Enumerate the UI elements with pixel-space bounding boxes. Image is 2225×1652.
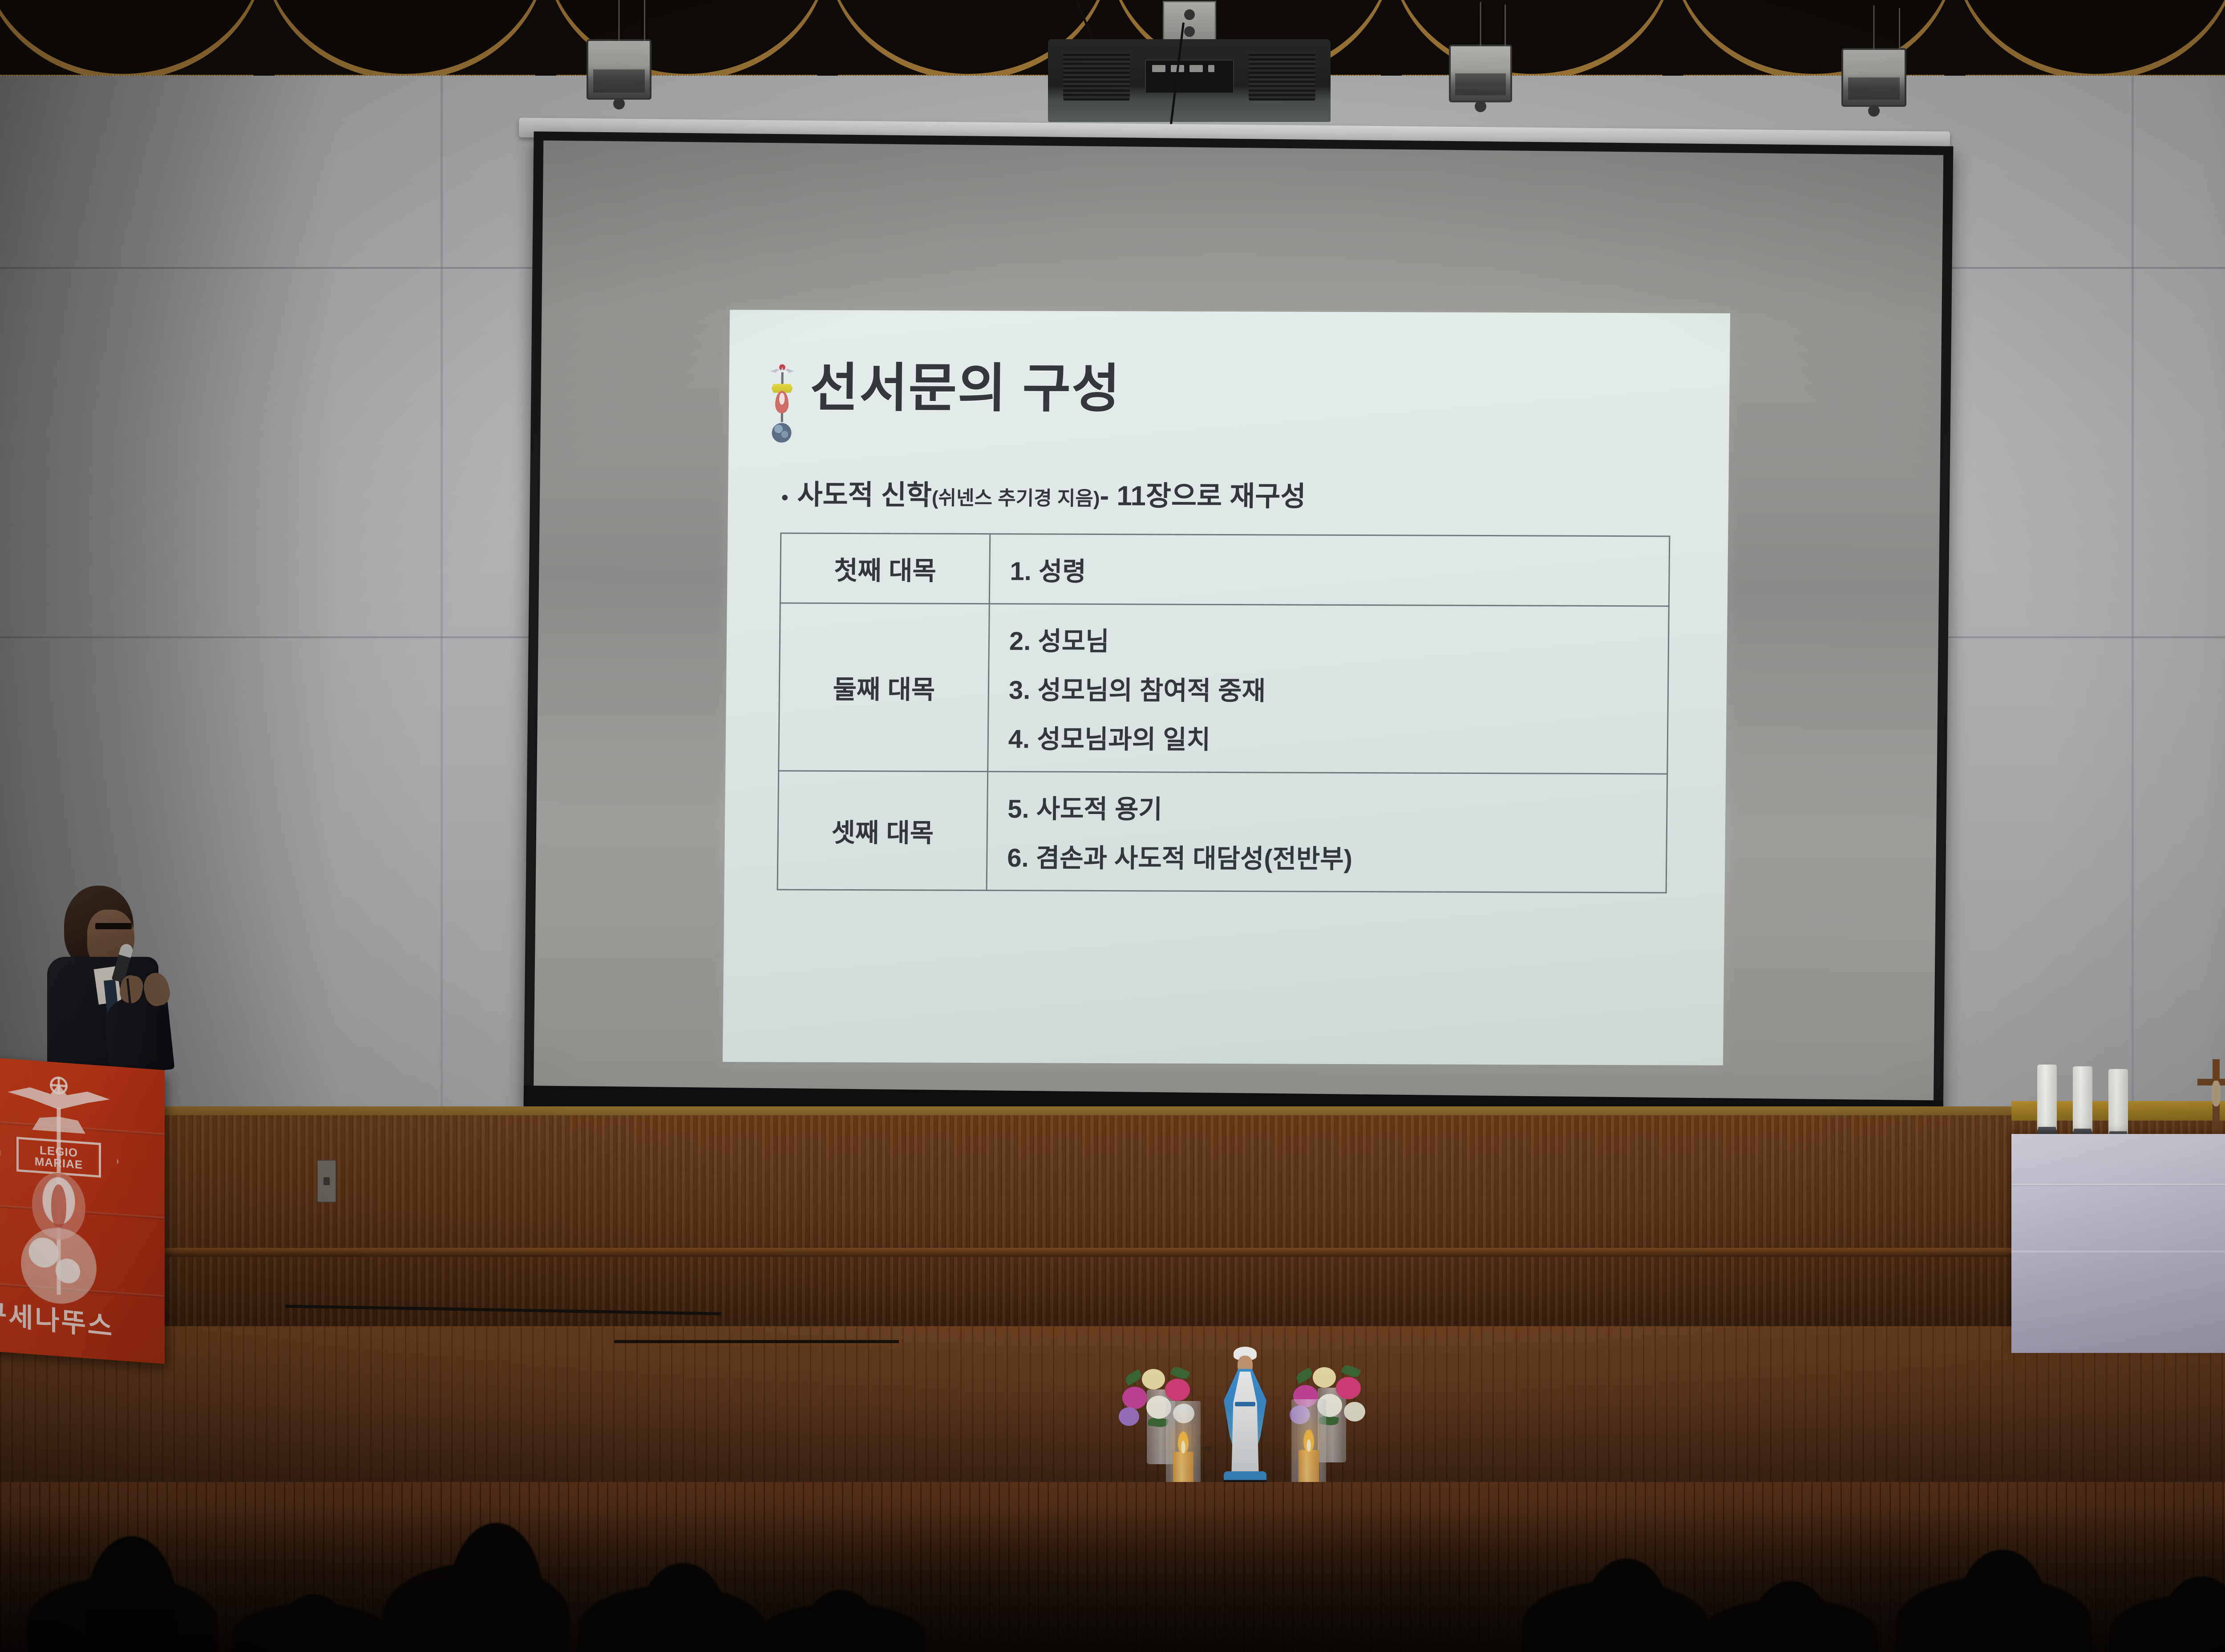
bullet-paren-text: (쉬넨스 추기경 지음) <box>932 482 1100 511</box>
table-row: 셋째 대목 5. 사도적 용기 6. 겸손과 사도적 대담성(전반부) <box>777 771 1667 893</box>
glasses-icon <box>95 923 132 929</box>
table-candle <box>2037 1060 2058 1142</box>
table-items-cell: 5. 사도적 용기 6. 겸손과 사도적 대담성(전반부) <box>987 772 1667 893</box>
floodlight-icon <box>1841 48 1906 107</box>
table-section-label: 셋째 대목 <box>777 771 988 891</box>
wall-outlet <box>317 1160 336 1203</box>
ceiling-projector <box>1048 27 1331 138</box>
wall-shading <box>2202 76 2225 1113</box>
table-item: 6. 겸손과 사도적 대담성(전반부) <box>1007 831 1653 882</box>
table-item: 1. 성령 <box>1010 544 1655 595</box>
emblem-plaque-text: LEGIO MARIAE <box>19 1143 99 1172</box>
projector-vent <box>1063 52 1130 101</box>
presenter-arm <box>102 994 175 1076</box>
projector-mount <box>1163 1 1216 44</box>
projector-ports <box>1145 60 1234 93</box>
table-candle <box>2073 1065 2093 1144</box>
floodlight-icon <box>587 39 651 100</box>
floodlight-icon <box>1449 45 1512 102</box>
slide-title: 선서문의 구성 <box>810 361 1121 417</box>
slide-table: 첫째 대목 1. 성령 둘째 대목 2. 성모님 3. 성모님의 참여적 중재 … <box>777 533 1671 894</box>
side-table-cloth <box>2011 1134 2225 1353</box>
table-row: 첫째 대목 1. 성령 <box>780 533 1670 606</box>
slide-title-row: 선서문의 구성 <box>769 360 1700 445</box>
auditorium-scene: 선서문의 구성 • 사도적 신학 (쉬넨스 추기경 지음) - 11장으로 재구… <box>0 0 2225 1652</box>
table-item: 3. 성모님의 참여적 중재 <box>1008 663 1654 714</box>
podium-banner: LEGIO MARIAE 구세나뚜스 <box>0 1057 165 1364</box>
table-items-cell: 1. 성령 <box>989 534 1670 606</box>
wall-seam-vertical <box>2132 76 2134 1113</box>
audience <box>0 1505 2225 1652</box>
table-items-cell: 2. 성모님 3. 성모님의 참여적 중재 4. 성모님과의 일치 <box>988 604 1669 774</box>
vexillum-icon <box>769 364 795 442</box>
table-section-label: 첫째 대목 <box>780 533 990 604</box>
virgin-mary-statue <box>1224 1347 1266 1496</box>
table-row: 둘째 대목 2. 성모님 3. 성모님의 참여적 중재 4. 성모님과의 일치 <box>779 603 1669 774</box>
bullet-main-text: 사도적 신학 <box>797 472 932 513</box>
projector-body <box>1048 39 1331 122</box>
table-section-label: 둘째 대목 <box>779 603 990 772</box>
bullet-marker: • <box>781 488 789 508</box>
projector-vent <box>1249 52 1315 101</box>
projected-slide: 선서문의 구성 • 사도적 신학 (쉬넨스 추기경 지음) - 11장으로 재구… <box>723 310 1730 1065</box>
legio-mariae-vexillum-icon: LEGIO MARIAE <box>0 1069 125 1328</box>
slide-bullet-line: • 사도적 신학 (쉬넨스 추기경 지음) - 11장으로 재구성 <box>781 472 1699 515</box>
side-table <box>2011 1068 2225 1353</box>
bullet-tail-text: - 11장으로 재구성 <box>1100 473 1306 514</box>
wall-seam-vertical <box>441 76 443 1113</box>
table-item: 4. 성모님과의 일치 <box>1008 712 1654 763</box>
table-item: 2. 성모님 <box>1009 614 1655 665</box>
table-item: 5. 사도적 용기 <box>1007 782 1653 833</box>
presenter <box>39 886 190 1086</box>
